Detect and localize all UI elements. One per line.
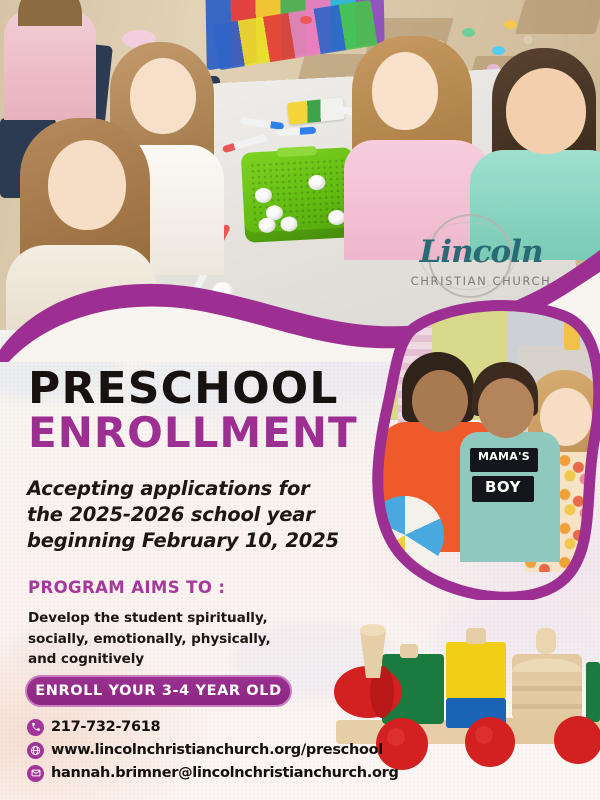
child-face: [48, 140, 126, 230]
email-address: hannah.brimner@lincolnchristianchurch.or…: [51, 765, 399, 781]
floor-dot: [462, 28, 475, 37]
logo-name: Lincoln: [406, 234, 556, 270]
page-title: PRESCHOOL: [28, 367, 339, 411]
contact-website-row[interactable]: www.lincolnchristianchurch.org/preschool: [27, 739, 399, 761]
subtitle-line-1: Accepting applications for: [27, 476, 357, 502]
pom-pom: [255, 187, 273, 203]
train-peg: [536, 628, 556, 654]
train-wheel: [465, 717, 515, 767]
floor-dot: [492, 46, 505, 55]
program-aims-body: Develop the student spiritually, sociall…: [28, 608, 328, 670]
train-yellow-block: [446, 642, 506, 700]
pom-pom: [308, 175, 326, 191]
program-aims-heading: PROGRAM AIMS TO :: [28, 578, 225, 597]
child-face: [372, 52, 438, 130]
website-url: www.lincolnchristianchurch.org/preschool: [51, 742, 383, 758]
contact-phone-row[interactable]: 217-732-7618: [27, 716, 399, 738]
train-peg: [466, 628, 486, 644]
logo-subtitle: CHRISTIAN CHURCH: [406, 274, 556, 288]
preschool-enrollment-poster: Lincoln CHRISTIAN CHURCH: [0, 0, 600, 800]
child-face: [130, 58, 196, 134]
background-child: [4, 10, 96, 120]
phone-number: 217-732-7618: [51, 719, 160, 735]
pom-pom: [280, 216, 298, 232]
pom-pom: [328, 210, 346, 226]
aims-line-2: socially, emotionally, physically,: [28, 629, 328, 650]
kids-hugging-photo: MAMA'S BOY: [368, 300, 600, 600]
aims-line-1: Develop the student spiritually,: [28, 608, 328, 629]
green-basket: [241, 147, 358, 243]
shirt-text-line1: MAMA'S: [470, 450, 538, 463]
phone-icon: [27, 719, 44, 736]
background-child-hair: [18, 0, 82, 26]
subtitle-line-3: beginning February 10, 2025: [27, 528, 357, 554]
floor-dot: [300, 16, 312, 24]
floor-dot: [504, 20, 517, 29]
train-chimney-top: [360, 624, 386, 636]
child-face: [478, 378, 534, 438]
subtitle-block: Accepting applications for the 2025-2026…: [27, 476, 357, 554]
envelope-icon: [27, 765, 44, 782]
wood-seam: [512, 686, 582, 691]
contact-email-row[interactable]: hannah.brimner@lincolnchristianchurch.or…: [27, 762, 399, 784]
pom-pom: [258, 217, 276, 233]
blob-frame: MAMA'S BOY: [368, 300, 600, 600]
enroll-button[interactable]: ENROLL YOUR 3-4 YEAR OLD: [25, 675, 292, 707]
church-logo: Lincoln CHRISTIAN CHURCH: [398, 212, 563, 297]
subtitle-line-2: the 2025-2026 school year: [27, 502, 357, 528]
page-subtitle-heading: ENROLLMENT: [28, 412, 358, 454]
floor-plank: [515, 0, 600, 34]
child-face: [412, 370, 468, 432]
contact-list: 217-732-7618 www.lincolnchristianchurch.…: [27, 716, 399, 785]
wood-seam: [512, 704, 582, 709]
train-green-block: [586, 662, 600, 722]
globe-icon: [27, 742, 44, 759]
shirt-text-line2: BOY: [472, 478, 534, 496]
train-peg: [400, 644, 418, 658]
wheel-highlight: [475, 726, 493, 744]
child-face: [506, 68, 586, 154]
aims-line-3: and cognitively: [28, 649, 328, 670]
train-wheel: [554, 716, 600, 764]
